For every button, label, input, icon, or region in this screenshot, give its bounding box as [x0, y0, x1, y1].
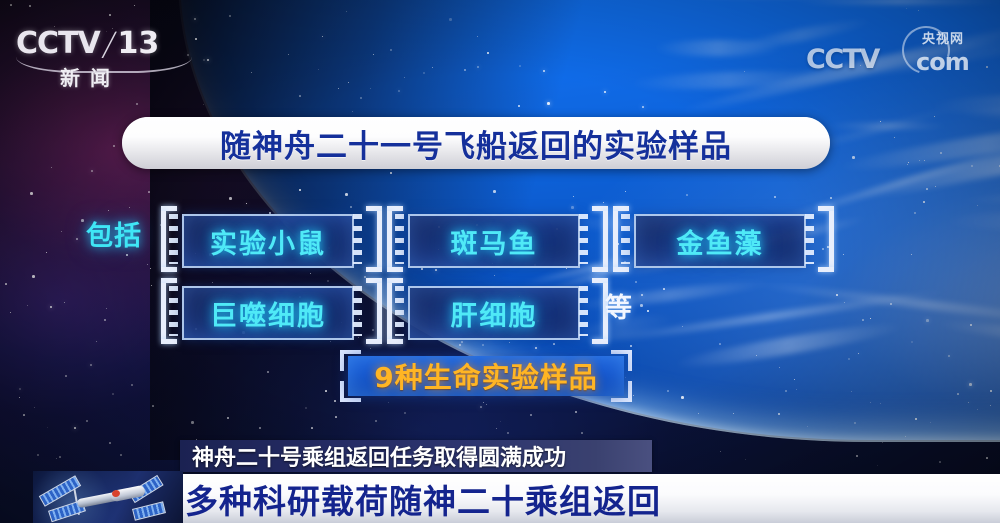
watermark-com-label: com: [916, 48, 969, 76]
item-label-row1-2: 斑马鱼: [451, 222, 538, 261]
item-label-row1-3: 金鱼藻: [677, 222, 764, 261]
highlight-summary[interactable]: 9种生命实验样品: [340, 350, 632, 402]
cctv-com-watermark: 央视网 CCTV com: [806, 26, 986, 82]
lower-third-headline-text: 多种科研载荷随神二十乘组返回: [185, 475, 661, 523]
item-box-row1-1[interactable]: 实验小鼠: [182, 214, 354, 268]
item-box-row2-2[interactable]: 肝细胞: [408, 286, 580, 340]
item-box-row1-3[interactable]: 金鱼藻: [634, 214, 806, 268]
watermark-cctv-label: CCTV: [806, 44, 879, 75]
page-title: 随神舟二十一号飞船返回的实验样品: [122, 117, 830, 169]
page-title-text: 随神舟二十一号飞船返回的实验样品: [220, 121, 732, 166]
lower-third-kicker-banner: 神舟二十号乘组返回任务取得圆满成功: [180, 440, 652, 472]
highlight-box: 9种生命实验样品: [348, 356, 624, 396]
item-label-row2-1: 巨噬细胞: [210, 294, 326, 333]
cctv-channel-number: 13: [118, 29, 160, 59]
item-label-row1-1: 实验小鼠: [210, 222, 326, 261]
item-box-row1-2[interactable]: 斑马鱼: [408, 214, 580, 268]
space-station-thumbnail: [33, 471, 183, 523]
etc-label: 等: [605, 286, 632, 325]
watermark-cn-label: 央视网: [922, 28, 964, 47]
cctv-channel-name: 新闻: [60, 62, 120, 91]
broadcast-screen: CCTV / 13 新闻 央视网 CCTV com 随神舟二十一号飞船返回的实验…: [0, 0, 1000, 523]
highlight-label: 9种生命实验样品: [374, 356, 597, 396]
cctv-wordmark: CCTV: [16, 29, 100, 59]
lower-third-kicker-text: 神舟二十号乘组返回任务取得圆满成功: [192, 440, 566, 472]
item-label-row2-2: 肝细胞: [451, 294, 538, 333]
include-label: 包括: [86, 214, 142, 253]
cctv-slash-icon: /: [101, 29, 118, 59]
item-box-row2-1[interactable]: 巨噬细胞: [182, 286, 354, 340]
cctv13-logo: CCTV / 13 新闻: [16, 26, 198, 88]
